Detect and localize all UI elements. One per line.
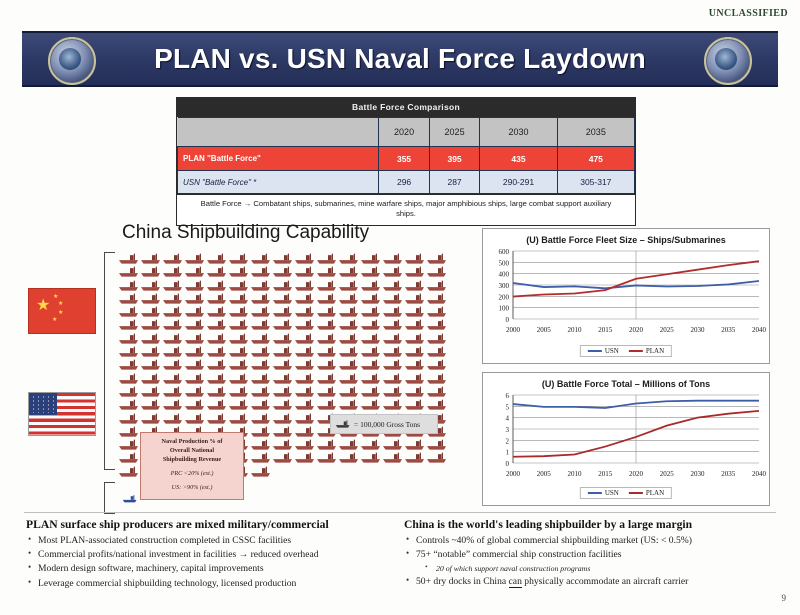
ship-pictogram — [338, 438, 360, 451]
ship-icon — [426, 332, 448, 345]
ship-icon — [206, 305, 228, 318]
ship-icon — [382, 279, 404, 292]
svg-text:2010: 2010 — [568, 470, 583, 478]
ship-pictogram — [316, 305, 338, 318]
ship-pictogram — [360, 385, 382, 398]
callout-us-value: US: >90% (est.) — [145, 484, 239, 493]
ship-pictogram — [316, 292, 338, 305]
ship-pictogram — [338, 292, 360, 305]
ship-icon — [206, 385, 228, 398]
ship-pictogram — [118, 305, 140, 318]
ship-icon — [140, 292, 162, 305]
usa-flag-icon — [28, 392, 96, 436]
ship-pictogram — [360, 358, 382, 371]
ship-icon — [272, 358, 294, 371]
ship-pictogram — [118, 332, 140, 345]
ship-icon — [228, 358, 250, 371]
ship-pictogram — [272, 252, 294, 265]
ship-pictogram — [206, 265, 228, 278]
ship-icon — [360, 279, 382, 292]
ship-pictogram — [140, 358, 162, 371]
ship-icon — [118, 372, 140, 385]
legend-label: PLAN — [646, 489, 664, 497]
list-item: Modern design software, machinery, capit… — [26, 562, 406, 576]
ship-icon — [316, 372, 338, 385]
ship-pictogram — [184, 398, 206, 411]
svg-text:2025: 2025 — [660, 326, 675, 334]
ship-pictogram — [404, 358, 426, 371]
ship-pictogram — [162, 345, 184, 358]
ship-pictogram — [272, 425, 294, 438]
ship-pictogram — [404, 252, 426, 265]
ship-icon — [360, 318, 382, 331]
ship-pictogram — [404, 345, 426, 358]
ship-icon — [206, 412, 228, 425]
ship-icon — [250, 412, 272, 425]
ship-pictogram — [118, 252, 140, 265]
ship-icon — [360, 332, 382, 345]
ship-pictogram — [382, 385, 404, 398]
ship-pictogram — [206, 292, 228, 305]
ship-icon — [162, 412, 184, 425]
ship-icon — [338, 358, 360, 371]
ship-icon — [404, 372, 426, 385]
ship-icon — [338, 292, 360, 305]
plan-2025: 395 — [429, 147, 480, 171]
ship-pictogram — [250, 385, 272, 398]
ship-pictogram — [338, 398, 360, 411]
ship-icon — [404, 398, 426, 411]
ship-icon — [360, 345, 382, 358]
ship-icon — [338, 252, 360, 265]
ship-pictogram — [294, 345, 316, 358]
row-label-usn: USN "Battle Force" * — [178, 171, 379, 194]
ship-icon — [140, 332, 162, 345]
ship-pictogram — [294, 279, 316, 292]
svg-text:0: 0 — [506, 460, 510, 468]
ship-icon — [140, 305, 162, 318]
callout-prc-value: PRC <20% (est.) — [145, 470, 239, 479]
ship-pictogram — [206, 372, 228, 385]
ship-pictogram — [140, 305, 162, 318]
table-header-2030: 2030 — [480, 118, 557, 147]
ship-pictogram — [118, 292, 140, 305]
ship-icon — [228, 318, 250, 331]
ship-icon — [162, 292, 184, 305]
ship-pictogram — [250, 412, 272, 425]
ship-pictogram — [426, 318, 448, 331]
ship-pictogram — [426, 252, 448, 265]
ship-icon — [360, 265, 382, 278]
ship-pictogram — [272, 451, 294, 464]
ship-icon — [250, 265, 272, 278]
ship-pictogram — [162, 372, 184, 385]
ship-icon — [316, 358, 338, 371]
ship-icon — [140, 252, 162, 265]
ship-pictogram — [294, 398, 316, 411]
ship-icon — [404, 318, 426, 331]
ship-pictogram — [228, 345, 250, 358]
ship-icon — [426, 345, 448, 358]
table-header-blank — [178, 118, 379, 147]
ship-pictogram — [184, 412, 206, 425]
ship-icon — [228, 305, 250, 318]
ship-pictogram — [338, 318, 360, 331]
capability-title: China Shipbuilding Capability — [122, 222, 369, 244]
list-item: Commercial profits/national investment i… — [26, 548, 406, 562]
ship-pictogram — [250, 398, 272, 411]
ship-icon — [294, 318, 316, 331]
ship-pictogram — [382, 438, 404, 451]
ship-icon — [404, 332, 426, 345]
ship-icon — [316, 398, 338, 411]
pictogram-key-label: = 100,000 Gross Tons — [354, 420, 420, 429]
ship-pictogram — [118, 385, 140, 398]
ship-pictogram — [250, 345, 272, 358]
ship-pictogram — [184, 318, 206, 331]
ship-icon — [118, 465, 140, 478]
ship-pictogram — [426, 305, 448, 318]
ship-pictogram — [206, 358, 228, 371]
ship-icon — [316, 305, 338, 318]
ship-pictogram — [404, 385, 426, 398]
left-heading: PLAN surface ship producers are mixed mi… — [26, 518, 406, 531]
ship-icon — [162, 385, 184, 398]
ship-pictogram — [184, 265, 206, 278]
ship-pictogram — [162, 332, 184, 345]
ship-pictogram — [426, 292, 448, 305]
ship-icon — [184, 385, 206, 398]
ship-pictogram — [162, 292, 184, 305]
row-label-plan: PLAN "Battle Force" — [178, 147, 379, 171]
ship-icon — [382, 372, 404, 385]
ship-icon — [206, 252, 228, 265]
table-header-title: Battle Force Comparison — [177, 98, 635, 117]
ship-icon — [162, 252, 184, 265]
plan-2030: 435 — [480, 147, 557, 171]
ship-icon — [338, 332, 360, 345]
ship-pictogram — [338, 305, 360, 318]
ship-icon — [294, 332, 316, 345]
ship-pictogram — [162, 385, 184, 398]
ship-icon — [382, 398, 404, 411]
ship-icon — [404, 292, 426, 305]
ship-icon — [294, 451, 316, 464]
ship-pictogram — [338, 451, 360, 464]
ship-pictogram — [140, 345, 162, 358]
chart-legend: USN PLAN — [580, 345, 672, 357]
ship-pictogram — [360, 438, 382, 451]
ship-icon — [316, 279, 338, 292]
ship-pictogram — [404, 265, 426, 278]
ship-icon — [294, 398, 316, 411]
svg-text:2040: 2040 — [752, 326, 767, 334]
ship-pictogram — [426, 265, 448, 278]
ship-icon — [316, 292, 338, 305]
ship-pictogram — [426, 398, 448, 411]
ship-pictogram — [228, 305, 250, 318]
ship-pictogram — [250, 252, 272, 265]
ship-pictogram — [206, 252, 228, 265]
page-title: PLAN vs. USN Naval Force Laydown — [154, 43, 646, 75]
ship-icon — [338, 279, 360, 292]
ship-pictogram — [206, 385, 228, 398]
svg-text:1: 1 — [506, 449, 510, 457]
ship-pictogram — [382, 318, 404, 331]
chart-svg: 0123456200020052010201520202025203020352… — [483, 389, 769, 485]
ship-pictogram — [184, 372, 206, 385]
ship-icon — [118, 451, 140, 464]
ship-icon — [118, 425, 140, 438]
ship-icon — [338, 451, 360, 464]
ship-pictogram — [206, 332, 228, 345]
ship-pictogram — [338, 265, 360, 278]
ship-pictogram — [162, 305, 184, 318]
ship-pictogram — [338, 252, 360, 265]
ship-pictogram — [272, 265, 294, 278]
ship-icon — [118, 292, 140, 305]
ship-pictogram — [250, 465, 272, 478]
ship-icon — [426, 358, 448, 371]
ship-pictogram — [272, 372, 294, 385]
ship-icon — [360, 451, 382, 464]
ship-icon — [404, 279, 426, 292]
flag-star-small: ★ — [53, 294, 58, 300]
ship-icon — [382, 265, 404, 278]
ship-icon — [250, 438, 272, 451]
ship-icon — [272, 292, 294, 305]
ship-icon — [206, 292, 228, 305]
ship-icon — [404, 385, 426, 398]
ship-icon — [426, 398, 448, 411]
ship-pictogram — [426, 345, 448, 358]
ship-pictogram — [206, 412, 228, 425]
ship-pictogram — [294, 332, 316, 345]
ship-pictogram — [426, 279, 448, 292]
ship-pictogram — [162, 279, 184, 292]
ship-icon — [140, 385, 162, 398]
svg-text:2040: 2040 — [752, 470, 767, 478]
ship-pictogram — [338, 358, 360, 371]
ship-icon — [316, 318, 338, 331]
callout-heading-line1: Naval Production % of — [145, 438, 239, 447]
ship-icon — [140, 265, 162, 278]
svg-text:2010: 2010 — [568, 326, 583, 334]
ship-pictogram — [250, 358, 272, 371]
usn-2025: 287 — [429, 171, 480, 194]
ship-pictogram — [118, 438, 140, 451]
ship-pictogram — [294, 451, 316, 464]
ship-icon — [382, 345, 404, 358]
flag-star-small: ★ — [52, 317, 57, 323]
ship-pictogram — [272, 412, 294, 425]
ship-icon — [272, 318, 294, 331]
ship-pictogram — [140, 265, 162, 278]
ship-icon — [228, 292, 250, 305]
ship-icon — [404, 358, 426, 371]
ship-pictogram — [316, 358, 338, 371]
svg-text:6: 6 — [506, 392, 510, 400]
list-item: Most PLAN-associated construction comple… — [26, 534, 406, 548]
svg-text:2030: 2030 — [691, 470, 706, 478]
ship-icon — [228, 332, 250, 345]
ship-icon — [382, 451, 404, 464]
ship-icon — [272, 332, 294, 345]
chart-legend: USN PLAN — [580, 487, 672, 499]
ship-pictogram — [294, 412, 316, 425]
title-banner: PLAN vs. USN Naval Force Laydown — [22, 31, 778, 87]
ship-icon — [118, 398, 140, 411]
ship-icon — [316, 438, 338, 451]
list-item: 20 of which support naval construction p… — [404, 563, 788, 575]
svg-text:200: 200 — [499, 293, 510, 301]
ship-icon — [338, 438, 360, 451]
ship-icon — [118, 318, 140, 331]
usa-brace — [104, 482, 115, 514]
ship-icon — [206, 398, 228, 411]
china-flag-icon: ★ ★ ★ ★ ★ — [28, 288, 96, 334]
naval-production-callout: Naval Production % of Overall National S… — [140, 432, 244, 500]
ship-icon — [250, 332, 272, 345]
ship-pictogram — [206, 345, 228, 358]
ship-pictogram — [272, 345, 294, 358]
ship-icon — [228, 252, 250, 265]
ship-icon — [162, 398, 184, 411]
ship-icon — [250, 345, 272, 358]
ship-icon — [338, 372, 360, 385]
ship-pictogram — [118, 372, 140, 385]
ship-pictogram — [338, 332, 360, 345]
ship-pictogram — [250, 425, 272, 438]
ship-pictogram — [360, 279, 382, 292]
ship-icon — [382, 358, 404, 371]
ship-icon — [294, 372, 316, 385]
ship-pictogram — [316, 332, 338, 345]
ship-pictogram — [140, 318, 162, 331]
svg-text:500: 500 — [499, 259, 510, 267]
ship-icon — [228, 372, 250, 385]
ship-icon — [316, 265, 338, 278]
ship-icon — [118, 332, 140, 345]
ship-pictogram — [250, 305, 272, 318]
ship-pictogram — [184, 279, 206, 292]
ship-icon — [426, 385, 448, 398]
ship-pictogram — [118, 451, 140, 464]
ship-pictogram — [360, 292, 382, 305]
ship-icon — [250, 385, 272, 398]
ship-pictogram — [316, 252, 338, 265]
ship-icon — [162, 358, 184, 371]
ship-icon — [228, 385, 250, 398]
ship-icon — [294, 385, 316, 398]
ship-pictogram — [250, 451, 272, 464]
ship-pictogram — [118, 412, 140, 425]
ship-icon — [360, 385, 382, 398]
ship-icon — [404, 345, 426, 358]
ship-icon — [426, 279, 448, 292]
ship-pictogram — [404, 332, 426, 345]
ship-pictogram — [272, 305, 294, 318]
ship-icon — [250, 358, 272, 371]
ship-pictogram — [294, 372, 316, 385]
ship-pictogram — [118, 465, 140, 478]
ship-pictogram — [294, 292, 316, 305]
svg-text:2035: 2035 — [721, 470, 736, 478]
svg-text:5: 5 — [506, 403, 510, 411]
ship-icon — [360, 372, 382, 385]
ship-pictogram — [184, 385, 206, 398]
ship-pictogram — [426, 438, 448, 451]
ship-icon — [404, 451, 426, 464]
page-number: 9 — [782, 593, 787, 603]
legend-item-plan: PLAN — [629, 489, 664, 497]
ship-icon — [206, 318, 228, 331]
ship-icon — [404, 265, 426, 278]
ship-icon — [316, 345, 338, 358]
ship-pictogram — [294, 318, 316, 331]
ship-pictogram — [382, 358, 404, 371]
ship-icon — [272, 372, 294, 385]
ship-icon — [206, 372, 228, 385]
table-header-2035: 2035 — [557, 118, 634, 147]
list-item: 75+ “notable” commercial ship constructi… — [404, 548, 788, 562]
ship-icon — [294, 305, 316, 318]
ship-icon — [228, 345, 250, 358]
ship-pictogram — [382, 265, 404, 278]
ship-pictogram — [294, 358, 316, 371]
svg-text:2015: 2015 — [598, 470, 613, 478]
ship-icon — [162, 332, 184, 345]
list-item: Controls ~40% of global commercial shipb… — [404, 534, 788, 548]
ship-pictogram — [140, 385, 162, 398]
ship-icon — [382, 385, 404, 398]
ship-icon — [272, 252, 294, 265]
ship-pictogram — [206, 305, 228, 318]
legend-label: PLAN — [646, 347, 664, 355]
ship-icon — [382, 332, 404, 345]
svg-text:2030: 2030 — [691, 326, 706, 334]
ship-icon — [316, 252, 338, 265]
ship-icon — [426, 318, 448, 331]
ship-icon — [206, 332, 228, 345]
ship-icon — [382, 305, 404, 318]
ship-icon — [294, 358, 316, 371]
svg-text:2000: 2000 — [506, 470, 521, 478]
ship-icon — [316, 385, 338, 398]
chart-svg: 0100200300400500600200020052010201520202… — [483, 245, 769, 341]
ship-pictogram — [228, 332, 250, 345]
fleet-size-chart: (U) Battle Force Fleet Size – Ships/Subm… — [482, 228, 770, 364]
ship-pictogram — [294, 385, 316, 398]
ship-icon — [162, 305, 184, 318]
table-row: PLAN "Battle Force" 355 395 435 475 — [178, 147, 635, 171]
ship-icon — [294, 425, 316, 438]
ship-icon — [250, 398, 272, 411]
ship-pictogram — [338, 279, 360, 292]
ship-icon — [140, 279, 162, 292]
ship-pictogram — [294, 252, 316, 265]
usn-2030: 290-291 — [480, 171, 557, 194]
ship-icon — [404, 252, 426, 265]
svg-text:2035: 2035 — [721, 326, 736, 334]
ship-icon — [272, 345, 294, 358]
ship-pictogram — [250, 279, 272, 292]
ship-pictogram — [316, 398, 338, 411]
ship-pictogram — [228, 292, 250, 305]
ship-pictogram — [404, 318, 426, 331]
ship-pictogram — [184, 305, 206, 318]
ship-pictogram — [404, 305, 426, 318]
